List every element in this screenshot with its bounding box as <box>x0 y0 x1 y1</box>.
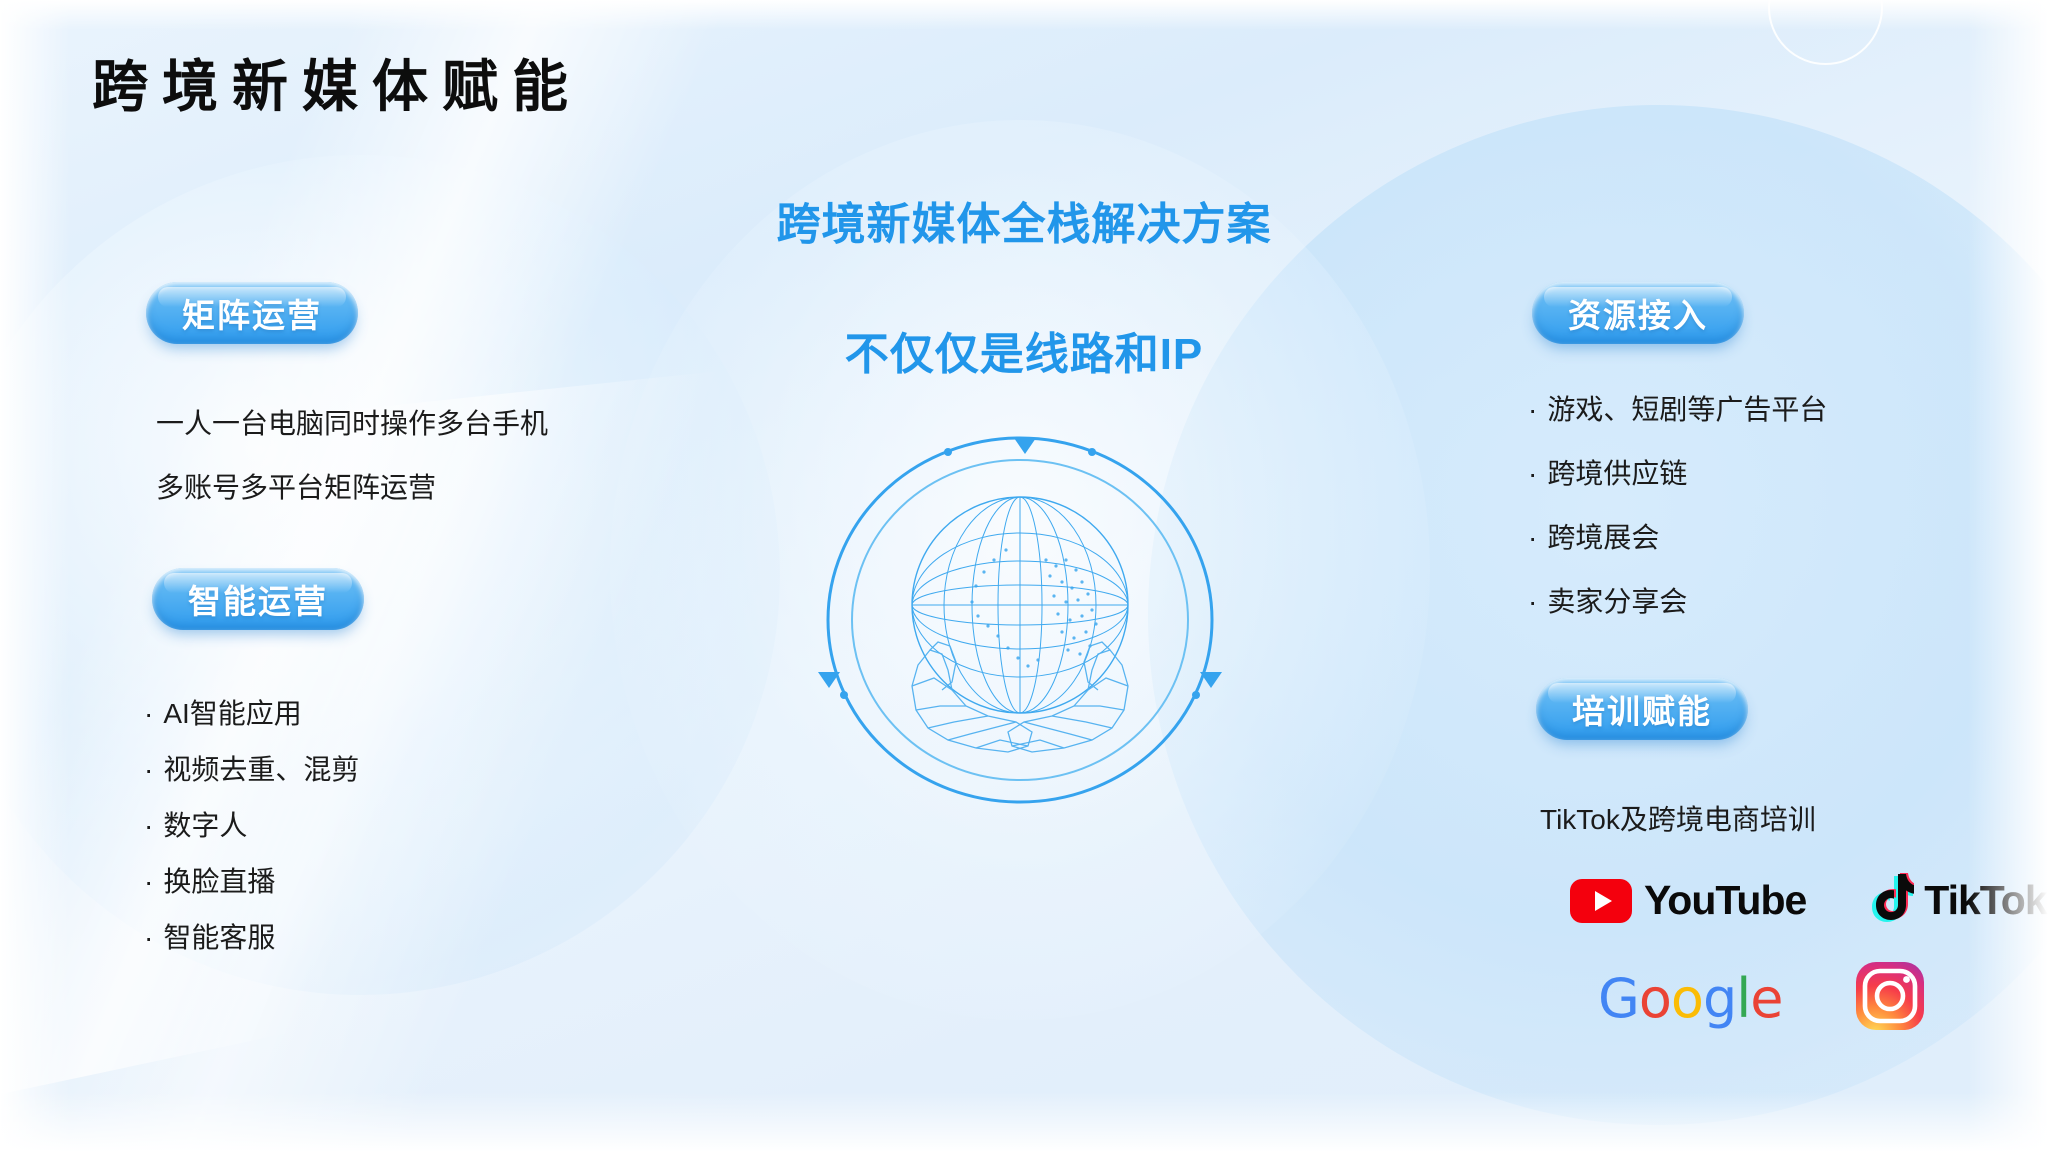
list-item-label: 视频去重、混剪 <box>163 754 359 785</box>
list-item-label: 换脸直播 <box>163 866 275 897</box>
right-section2-line-1: TikTok及跨境电商培训 <box>1540 798 1816 838</box>
bullet-dot: · <box>144 922 153 953</box>
slide-canvas: 跨境新媒体赋能 跨境新媒体全栈解决方案 不仅仅是线路和IP <box>0 0 2048 1152</box>
list-item: ·视频去重、混剪 <box>144 756 359 784</box>
pill-training-empowerment[interactable]: 培训赋能 <box>1536 678 1748 740</box>
list-item-label: 数字人 <box>163 810 247 841</box>
edge-fade-top <box>0 0 2048 30</box>
list-item: ·卖家分享会 <box>1528 588 1827 616</box>
list-item-label: AI智能应用 <box>163 698 301 729</box>
youtube-play-icon <box>1570 879 1632 923</box>
list-item-label: 智能客服 <box>163 922 275 953</box>
left-section1-line-1: 一人一台电脑同时操作多台手机 <box>156 402 548 442</box>
bullet-dot: · <box>144 754 153 785</box>
list-item: ·跨境展会 <box>1528 524 1827 552</box>
pill-matrix-operations[interactable]: 矩阵运营 <box>146 282 358 344</box>
right-section1-bullet-list: ·游戏、短剧等广告平台 ·跨境供应链 ·跨境展会 ·卖家分享会 <box>1528 396 1827 644</box>
list-item: ·数字人 <box>144 812 359 840</box>
left-section2-bullet-list: ·AI智能应用 ·视频去重、混剪 ·数字人 ·换脸直播 ·智能客服 <box>144 700 359 980</box>
logo-row-2: Google <box>1598 960 1926 1037</box>
edge-fade-bottom <box>0 1092 2048 1152</box>
bullet-dot: · <box>1528 522 1537 553</box>
list-item: ·跨境供应链 <box>1528 460 1827 488</box>
list-item: ·AI智能应用 <box>144 700 359 728</box>
list-item-label: 游戏、短剧等广告平台 <box>1547 394 1827 425</box>
bullet-dot: · <box>1528 394 1537 425</box>
edge-fade-right <box>1968 0 2048 1152</box>
list-item-label: 卖家分享会 <box>1547 586 1687 617</box>
bullet-dot: · <box>1528 458 1537 489</box>
headline-primary: 跨境新媒体全栈解决方案 <box>0 188 2048 252</box>
youtube-wordmark: YouTube <box>1644 877 1806 924</box>
list-item-label: 跨境展会 <box>1547 522 1659 553</box>
bullet-dot: · <box>144 698 153 729</box>
instagram-logo <box>1854 960 1926 1037</box>
globe-in-hands-illustration <box>770 410 1270 830</box>
bullet-dot: · <box>1528 586 1537 617</box>
list-item: ·智能客服 <box>144 924 359 952</box>
list-item: ·游戏、短剧等广告平台 <box>1528 396 1827 424</box>
page-title: 跨境新媒体赋能 <box>92 42 582 123</box>
bullet-dot: · <box>144 810 153 841</box>
left-section1-line-2: 多账号多平台矩阵运营 <box>156 466 436 506</box>
google-wordmark: Google <box>1598 967 1782 1030</box>
list-item-label: 跨境供应链 <box>1547 458 1687 489</box>
list-item: ·换脸直播 <box>144 868 359 896</box>
bullet-dot: · <box>144 866 153 897</box>
pill-smart-operations[interactable]: 智能运营 <box>152 568 364 630</box>
tiktok-note-icon <box>1868 872 1914 929</box>
edge-fade-left <box>0 0 70 1152</box>
youtube-logo: YouTube <box>1570 877 1806 924</box>
pill-resource-access[interactable]: 资源接入 <box>1532 282 1744 344</box>
